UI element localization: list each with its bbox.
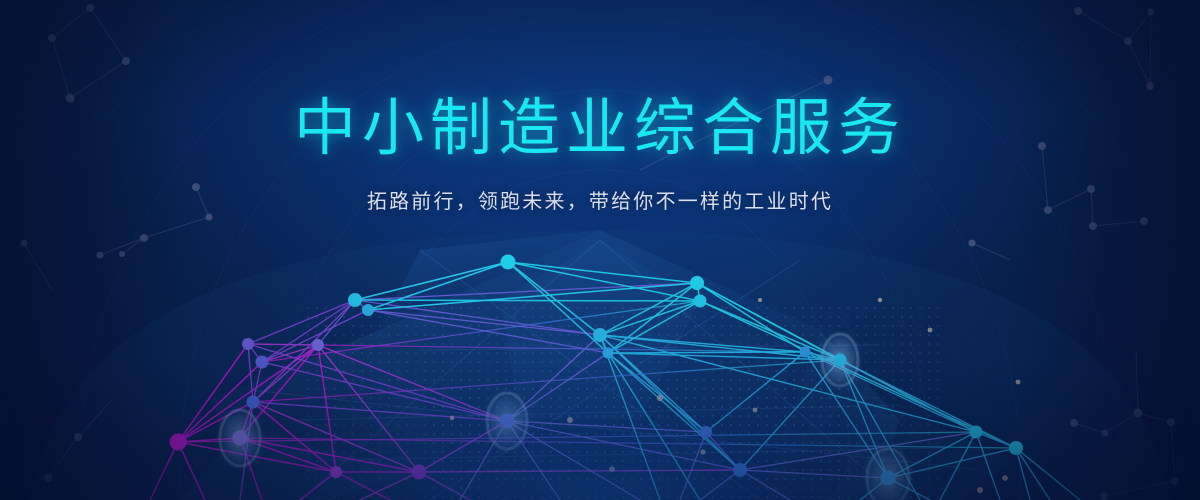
page-subtitle: 拓路前行，领跑未来，带给你不一样的工业时代 [0, 185, 1200, 214]
hero-banner: 中小制造业综合服务 拓路前行，领跑未来，带给你不一样的工业时代 [0, 0, 1200, 500]
background-vignette [0, 0, 1200, 500]
hero-text-block: 中小制造业综合服务 拓路前行，领跑未来，带给你不一样的工业时代 [0, 96, 1200, 214]
page-title: 中小制造业综合服务 [0, 96, 1200, 163]
